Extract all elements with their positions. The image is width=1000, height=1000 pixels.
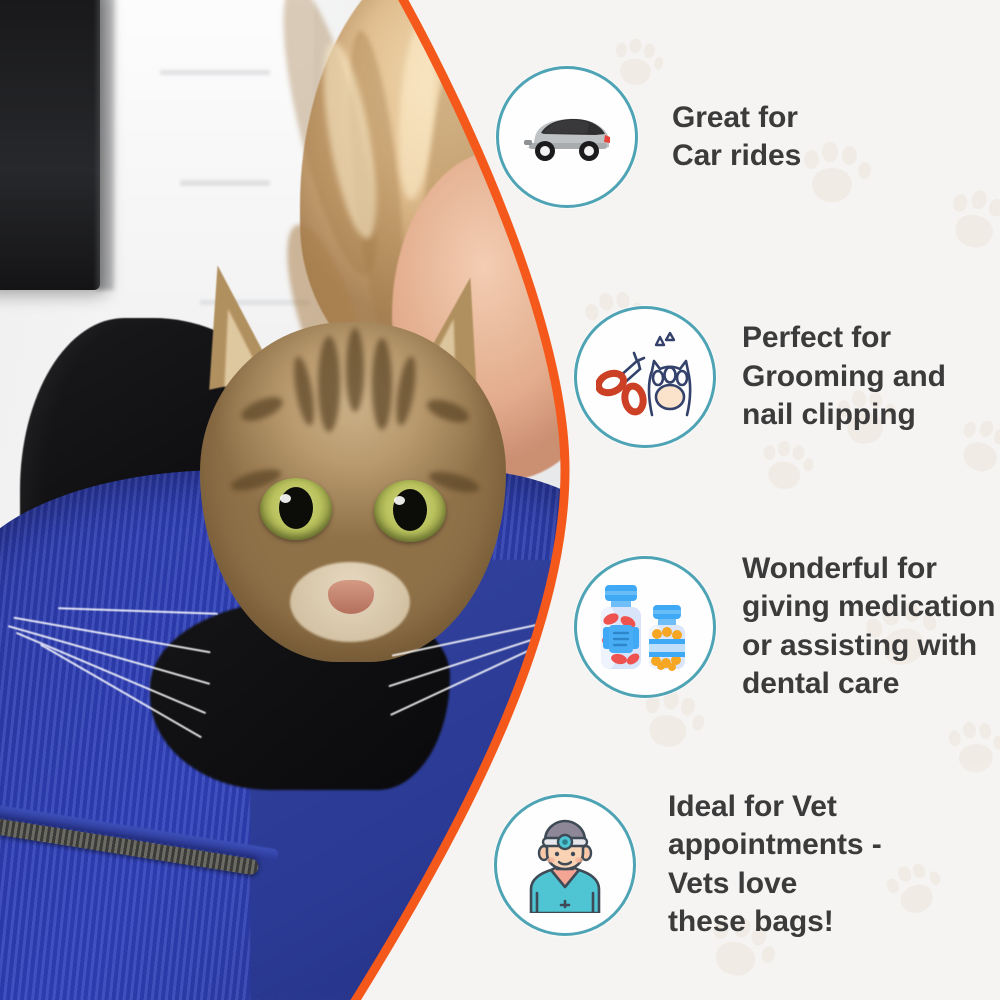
feature-badge-1 [496,66,638,208]
feature-row-grooming[interactable]: Perfect for Grooming and nail clipping [574,306,946,448]
paw-print-icon [880,854,953,927]
pill-bottles-icon [595,581,695,673]
veterinarian-icon [517,817,613,913]
paw-print-icon [945,717,1000,781]
feature-text-2: Perfect for Grooming and nail clipping [742,319,946,434]
feature-row-medication[interactable]: Wonderful for giving medication or assis… [574,550,995,704]
feature-badge-3 [574,556,716,698]
feature-text-4: Ideal for Vet appointments - Vets love t… [668,788,882,942]
feature-badge-4 [494,794,636,936]
feature-row-vet[interactable]: Ideal for Vet appointments - Vets love t… [494,788,882,942]
infographic-canvas: Great for Car rides [0,0,1000,1000]
nail-clippers-paw-icon [596,331,694,423]
feature-row-car-rides[interactable]: Great for Car rides [496,66,801,208]
feature-badge-2 [574,306,716,448]
paw-print-icon [800,140,870,210]
cat-eye-left [260,478,332,540]
cat-eye-right [374,480,446,542]
paw-print-icon [939,183,1000,263]
feature-text-1: Great for Car rides [672,99,801,176]
wall-detail [180,180,270,186]
monitor [0,0,100,290]
feature-text-3: Wonderful for giving medication or assis… [742,550,995,704]
car-icon [521,107,613,167]
cat [178,262,526,692]
monitor-edge [96,0,114,290]
paw-print-icon [948,412,1000,486]
wall-detail [160,70,270,75]
